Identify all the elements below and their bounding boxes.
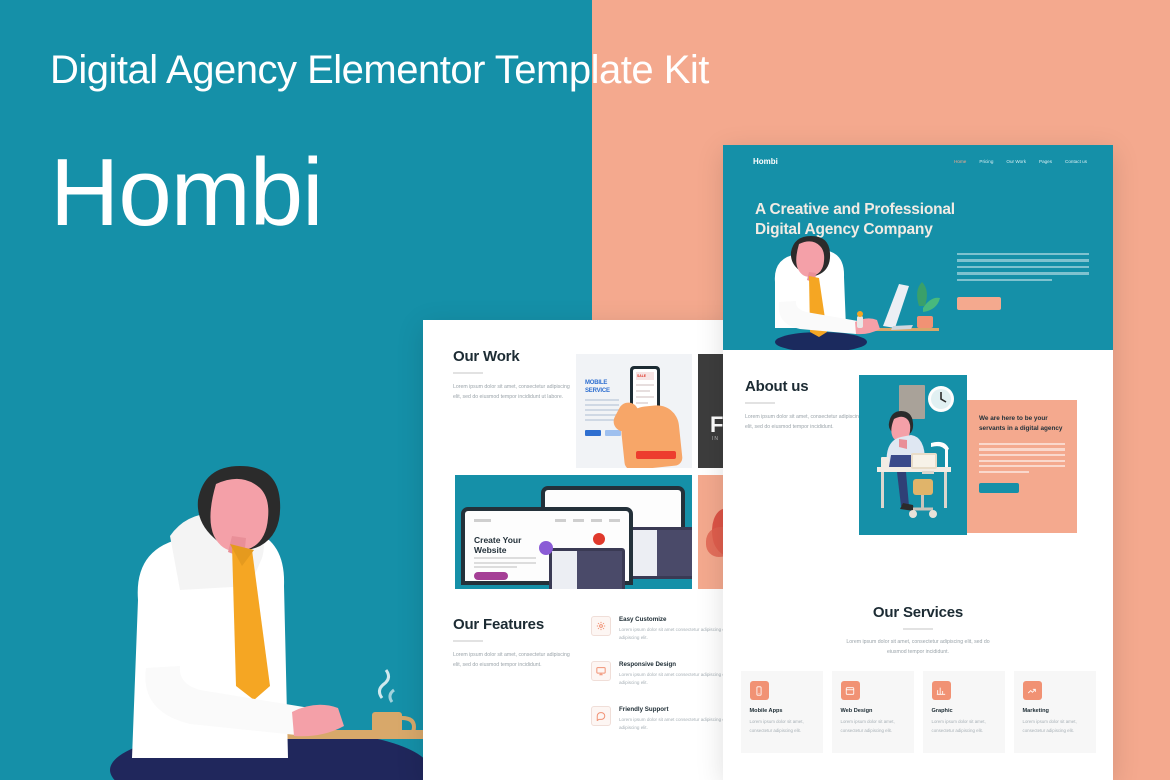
browser-icon bbox=[841, 681, 860, 700]
feature-text: Lorem ipsum dolor sit amet consectetur a… bbox=[619, 716, 739, 733]
service-text: Lorem ipsum dolor sit amet, consectetur … bbox=[1023, 718, 1087, 735]
services-body: Lorem ipsum dolor sit amet, consectetur … bbox=[843, 638, 993, 657]
gear-icon bbox=[591, 616, 611, 636]
feature-text: Lorem ipsum dolor sit amet consectetur a… bbox=[619, 671, 739, 688]
hero-section: Hombi Home Pricing Our Work Pages Contac… bbox=[723, 145, 1113, 350]
hero-illustration bbox=[743, 230, 953, 350]
service-card-mobile-apps[interactable]: Mobile Apps Lorem ipsum dolor sit amet, … bbox=[741, 671, 823, 753]
nav-item-our-work[interactable]: Our Work bbox=[1006, 159, 1026, 164]
site-logo[interactable]: Hombi bbox=[753, 157, 778, 166]
promo-logo: Hombi bbox=[50, 140, 322, 246]
laptop-mockup: Create Your Website bbox=[461, 507, 633, 585]
feature-item[interactable]: Easy Customize Lorem ipsum dolor sit ame… bbox=[591, 616, 739, 643]
businessman-illustration bbox=[20, 440, 460, 780]
services-header: Our Services Lorem ipsum dolor sit amet,… bbox=[723, 604, 1113, 657]
feature-item[interactable]: Friendly Support Lorem ipsum dolor sit a… bbox=[591, 706, 739, 733]
home-page-mockup[interactable]: Hombi Home Pricing Our Work Pages Contac… bbox=[723, 145, 1113, 780]
portfolio-tile-website[interactable]: Create Your Website bbox=[455, 475, 692, 589]
feature-name: Easy Customize bbox=[619, 616, 739, 623]
portfolio-tile-mobile-service[interactable]: MOBILE SERVICE SALE bbox=[576, 354, 692, 468]
service-text: Lorem ipsum dolor sit amet, consectetur … bbox=[750, 718, 814, 735]
growth-icon bbox=[1023, 681, 1042, 700]
service-card-web-design[interactable]: Web Design Lorem ipsum dolor sit amet, c… bbox=[832, 671, 914, 753]
about-illustration bbox=[859, 375, 967, 535]
monitor-mockup-back bbox=[629, 527, 692, 579]
chart-icon bbox=[932, 681, 951, 700]
feature-item[interactable]: Responsive Design Lorem ipsum dolor sit … bbox=[591, 661, 739, 688]
divider bbox=[903, 628, 933, 630]
feature-name: Responsive Design bbox=[619, 661, 739, 668]
about-card-title: We are here to be your servants in a dig… bbox=[979, 414, 1065, 434]
service-text: Lorem ipsum dolor sit amet, consectetur … bbox=[841, 718, 905, 735]
placeholder-buttons bbox=[585, 430, 621, 436]
about-section: About us Lorem ipsum dolor sit amet, con… bbox=[723, 350, 1113, 600]
feature-name: Friendly Support bbox=[619, 706, 739, 713]
services-cards: Mobile Apps Lorem ipsum dolor sit amet, … bbox=[723, 671, 1113, 753]
nav-item-contact-us[interactable]: Contact us bbox=[1065, 159, 1087, 164]
service-name: Mobile Apps bbox=[750, 708, 814, 714]
red-accent-bar bbox=[636, 451, 676, 459]
nav-item-pricing[interactable]: Pricing bbox=[979, 159, 993, 164]
our-features-header: Our Features Lorem ipsum dolor sit amet,… bbox=[453, 616, 571, 670]
our-features-body: Lorem ipsum dolor sit amet, consectetur … bbox=[453, 651, 571, 670]
nav-item-pages[interactable]: Pages bbox=[1039, 159, 1052, 164]
learn-more-button[interactable] bbox=[979, 483, 1019, 493]
chat-icon bbox=[591, 706, 611, 726]
divider bbox=[453, 640, 483, 642]
about-highlight-card: We are here to be your servants in a dig… bbox=[967, 400, 1077, 533]
our-features-title: Our Features bbox=[453, 616, 571, 633]
dark-tile-sub: IN bbox=[712, 436, 719, 442]
feature-text: Lorem ipsum dolor sit amet consectetur a… bbox=[619, 626, 739, 643]
service-name: Web Design bbox=[841, 708, 905, 714]
services-section: Our Services Lorem ipsum dolor sit amet,… bbox=[723, 600, 1113, 753]
cta-button-purple[interactable] bbox=[474, 572, 508, 580]
mobile-icon bbox=[750, 681, 769, 700]
nav-item-home[interactable]: Home bbox=[954, 159, 966, 164]
service-text: Lorem ipsum dolor sit amet, consectetur … bbox=[932, 718, 996, 735]
service-name: Graphic bbox=[932, 708, 996, 714]
about-title: About us bbox=[745, 378, 863, 395]
service-card-graphic[interactable]: Graphic Lorem ipsum dolor sit amet, cons… bbox=[923, 671, 1005, 753]
divider bbox=[453, 372, 483, 374]
about-card-body bbox=[979, 443, 1065, 473]
hero-cta-button[interactable] bbox=[957, 297, 1001, 310]
main-navigation: Home Pricing Our Work Pages Contact us bbox=[954, 159, 1087, 164]
about-body: Lorem ipsum dolor sit amet, consectetur … bbox=[745, 413, 863, 432]
services-title: Our Services bbox=[723, 604, 1113, 621]
promo-title: Digital Agency Elementor Template Kit bbox=[50, 48, 709, 93]
divider bbox=[745, 402, 775, 404]
create-website-title: Create Your Website bbox=[474, 535, 534, 555]
monitor-icon bbox=[591, 661, 611, 681]
service-card-marketing[interactable]: Marketing Lorem ipsum dolor sit amet, co… bbox=[1014, 671, 1096, 753]
service-name: Marketing bbox=[1023, 708, 1087, 714]
features-column-1: Easy Customize Lorem ipsum dolor sit ame… bbox=[591, 616, 739, 751]
hero-body-text bbox=[957, 253, 1089, 285]
about-header: About us Lorem ipsum dolor sit amet, con… bbox=[745, 378, 863, 432]
mobile-service-label: MOBILE SERVICE bbox=[585, 380, 610, 395]
monitor-mockup-front bbox=[549, 548, 625, 589]
our-work-body: Lorem ipsum dolor sit amet, consectetur … bbox=[453, 383, 571, 402]
